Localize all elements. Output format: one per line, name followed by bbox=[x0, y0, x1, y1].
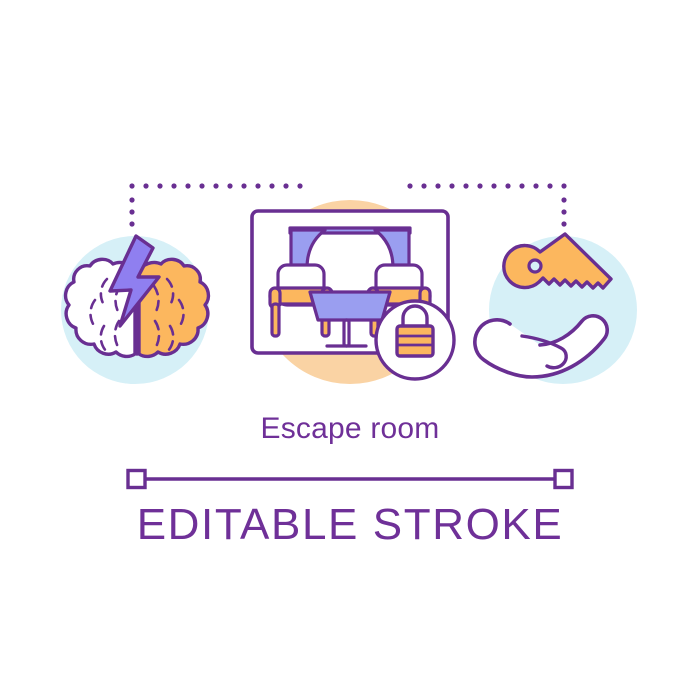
stroke-bar-handle-left[interactable] bbox=[128, 471, 145, 488]
stroke-bar-handle-right[interactable] bbox=[555, 471, 572, 488]
sofa-left-leg-front bbox=[272, 304, 279, 336]
brain-icon bbox=[61, 236, 209, 384]
key-hole bbox=[529, 260, 541, 272]
escape-room-concept-illustration bbox=[0, 0, 700, 700]
coffee-table-top bbox=[310, 292, 390, 320]
padlock-badge bbox=[376, 301, 454, 379]
illustration-canvas: Escape room EDITABLE STROKE bbox=[0, 0, 700, 700]
padlock-body bbox=[397, 326, 433, 356]
